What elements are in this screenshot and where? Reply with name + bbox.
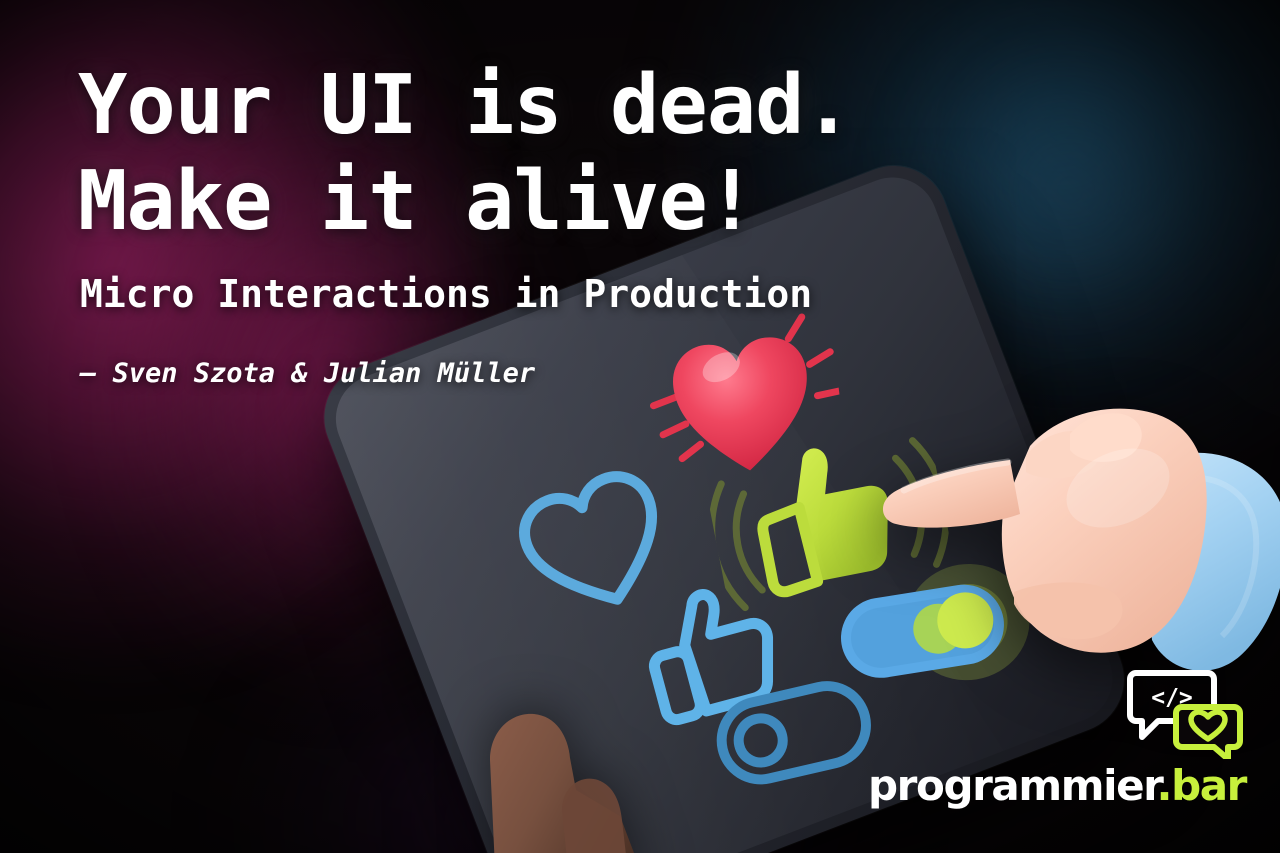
holding-hand bbox=[470, 640, 790, 853]
slide-canvas: Your UI is dead. Make it alive! Micro In… bbox=[0, 0, 1280, 853]
title-block: Your UI is dead. Make it alive! Micro In… bbox=[78, 58, 852, 392]
brand-logo[interactable]: </> programmier.bar bbox=[868, 667, 1246, 807]
subtitle: Micro Interactions in Production bbox=[80, 268, 852, 320]
logo-speech-bubbles: </> bbox=[1124, 667, 1246, 759]
byline-speakers: – Sven Szota & Julian Müller bbox=[80, 356, 852, 392]
wordmark: programmier.bar bbox=[868, 765, 1246, 807]
headline-line-2: Make it alive! bbox=[78, 154, 852, 250]
wordmark-main: programmier bbox=[868, 761, 1157, 810]
headline-line-1: Your UI is dead. bbox=[78, 58, 852, 154]
pointing-hand bbox=[880, 360, 1280, 690]
wordmark-accent: .bar bbox=[1157, 761, 1246, 810]
heart-bubble-icon bbox=[1176, 707, 1240, 759]
